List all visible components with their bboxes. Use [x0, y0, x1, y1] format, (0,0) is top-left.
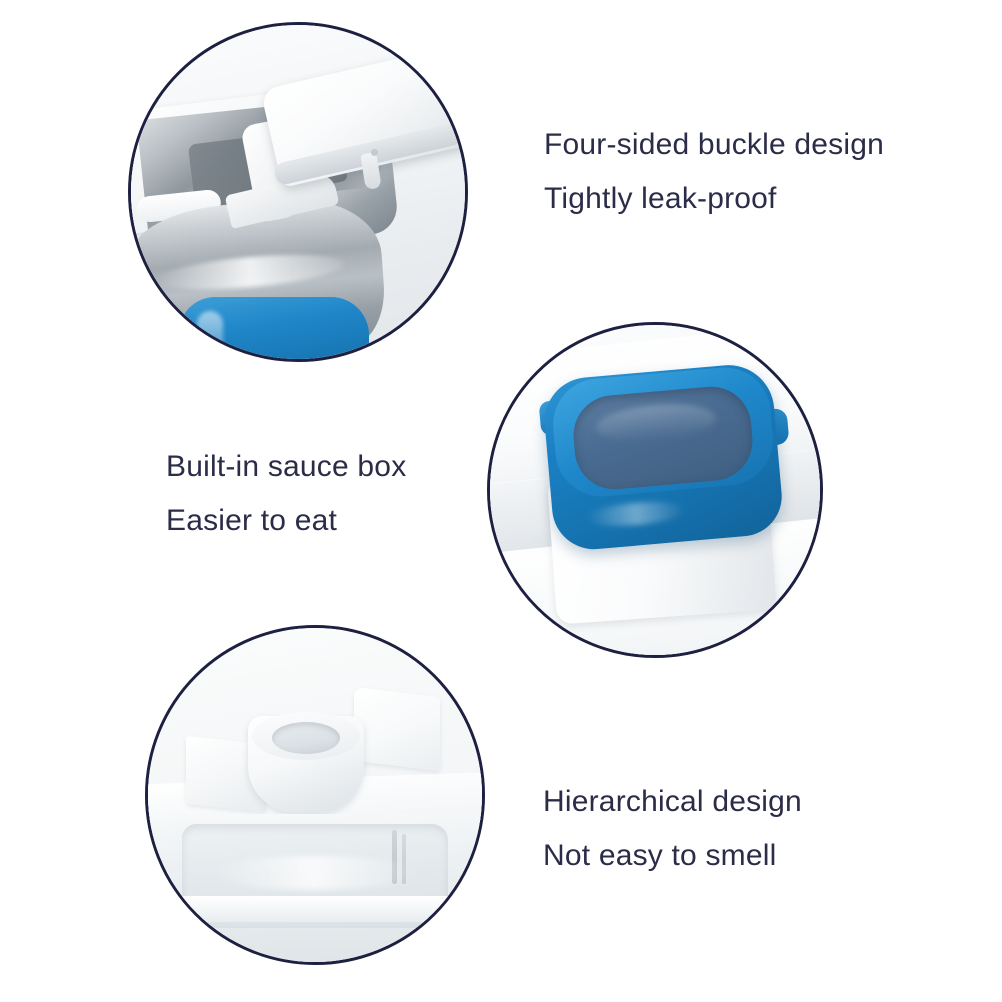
- center-well-opening: [272, 722, 340, 754]
- blue-base-highlight: [197, 311, 223, 359]
- sauce-caption-line2: Easier to eat: [166, 494, 406, 548]
- sauce-caption: Built-in sauce box Easier to eat: [166, 440, 406, 548]
- tray-photo-inner: [148, 628, 482, 962]
- buckle-clasp-photo: [128, 22, 468, 362]
- clasp-pivot-dot: [371, 149, 378, 156]
- tray-flange-right: [354, 687, 440, 772]
- basin-highlight: [208, 856, 418, 890]
- tier-caption-line2: Not easy to smell: [543, 829, 802, 883]
- basin-front-lip: [148, 896, 482, 922]
- sauce-caption-line1: Built-in sauce box: [166, 440, 406, 494]
- tiered-tray-photo: [145, 625, 485, 965]
- buckle-photo-inner: [131, 25, 465, 359]
- sauce-box-photo: [487, 322, 823, 658]
- infographic-canvas: Four-sided buckle design Tightly leak-pr…: [0, 0, 1002, 1002]
- buckle-caption-line2: Tightly leak-proof: [544, 172, 884, 226]
- tier-caption-line1: Hierarchical design: [543, 775, 802, 829]
- buckle-caption-line1: Four-sided buckle design: [544, 118, 884, 172]
- buckle-caption: Four-sided buckle design Tightly leak-pr…: [544, 118, 884, 226]
- tier-caption: Hierarchical design Not easy to smell: [543, 775, 802, 883]
- sauce-photo-inner: [490, 325, 820, 655]
